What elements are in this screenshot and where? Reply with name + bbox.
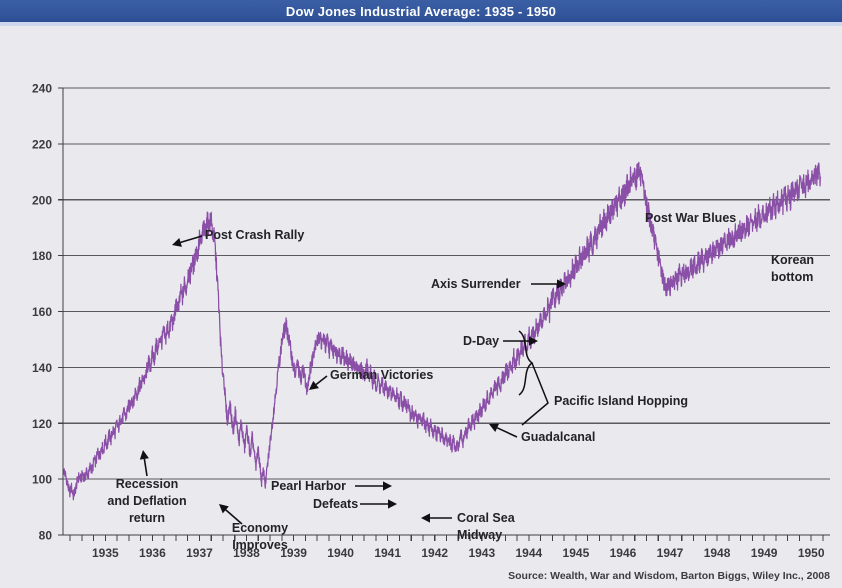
x-tick-label-1940: 1940 xyxy=(327,546,354,560)
x-tick-label-1950: 1950 xyxy=(798,546,825,560)
annotation-label-korean-bottom: Korean xyxy=(771,253,814,267)
y-tick-label-200: 200 xyxy=(32,193,52,207)
annotation-label-economy-improves: Improves xyxy=(232,538,288,552)
annotation-arrowhead-coral-sea-midway xyxy=(421,513,430,522)
annotation-label-korean-bottom: bottom xyxy=(771,270,813,284)
y-tick-label-80: 80 xyxy=(39,529,53,543)
annotation-label-defeats: Defeats xyxy=(313,497,358,511)
x-tick-label-1945: 1945 xyxy=(563,546,590,560)
annotation-arrowhead-pearl-harbor xyxy=(383,481,392,490)
annotation-recession-deflation: Recessionand Deflationreturn xyxy=(107,450,186,525)
chart-canvas: 80100120140160180200220240 1935193619371… xyxy=(0,26,842,588)
x-tick-label-1947: 1947 xyxy=(657,546,684,560)
annotation-label-pacific-island-hopping: Pacific Island Hopping xyxy=(554,394,688,408)
annotation-arrow-german-victories xyxy=(316,376,327,384)
y-axis-ticks-group: 80100120140160180200220240 xyxy=(32,82,63,543)
annotation-label-recession-deflation: Recession xyxy=(116,477,179,491)
x-tick-label-1942: 1942 xyxy=(421,546,448,560)
dow-jones-line-chart: 80100120140160180200220240 1935193619371… xyxy=(0,26,842,588)
annotation-post-war-blues: Post War Blues xyxy=(645,211,736,225)
y-tick-label-160: 160 xyxy=(32,305,52,319)
chart-page: 80100120140160180200220240 1935193619371… xyxy=(0,26,842,588)
x-tick-label-1946: 1946 xyxy=(610,546,637,560)
source-note: Source: Wealth, War and Wisdom, Barton B… xyxy=(508,570,830,582)
x-tick-label-1949: 1949 xyxy=(751,546,778,560)
annotation-arrow-guadalcanal xyxy=(497,428,517,437)
annotation-arrowhead-recession-deflation xyxy=(140,450,149,460)
annotation-label-recession-deflation: return xyxy=(129,511,165,525)
annotation-arrowhead-german-victories xyxy=(309,381,319,390)
annotation-label-axis-surrender: Axis Surrender xyxy=(431,277,521,291)
annotation-pearl-harbor: Pearl Harbor xyxy=(271,479,392,493)
x-tick-label-1937: 1937 xyxy=(186,546,213,560)
annotation-label-d-day: D-Day xyxy=(463,334,499,348)
annotation-label-guadalcanal: Guadalcanal xyxy=(521,430,595,444)
window-title-bar: Dow Jones Industrial Average: 1935 - 195… xyxy=(0,0,842,22)
x-tick-label-1935: 1935 xyxy=(92,546,119,560)
annotation-arrowhead-defeats xyxy=(388,499,397,508)
y-tick-label-180: 180 xyxy=(32,249,52,263)
annotation-pacific-island-hopping: Pacific Island Hopping xyxy=(519,331,688,425)
y-tick-label-100: 100 xyxy=(32,473,52,487)
annotation-post-crash-rally: Post Crash Rally xyxy=(172,228,304,247)
annotation-korean-bottom: Koreanbottom xyxy=(771,253,814,284)
annotation-label-coral-sea-midway: Coral Sea xyxy=(457,511,516,525)
annotation-label-pearl-harbor: Pearl Harbor xyxy=(271,479,346,493)
x-tick-label-1936: 1936 xyxy=(139,546,166,560)
annotation-economy-improves: EconomyImproves xyxy=(219,504,288,552)
annotation-arrow-recession-deflation xyxy=(144,459,147,476)
annotation-label-recession-deflation: and Deflation xyxy=(107,494,186,508)
annotation-label-german-victories: German Victories xyxy=(330,368,433,382)
annotation-label-post-crash-rally: Post Crash Rally xyxy=(205,228,304,242)
annotation-axis-surrender: Axis Surrender xyxy=(431,277,566,291)
x-tick-label-1948: 1948 xyxy=(704,546,731,560)
x-tick-label-1943: 1943 xyxy=(468,546,495,560)
page-title: Dow Jones Industrial Average: 1935 - 195… xyxy=(286,4,556,19)
y-tick-label-140: 140 xyxy=(32,361,52,375)
x-tick-label-1944: 1944 xyxy=(515,546,542,560)
y-tick-label-240: 240 xyxy=(32,82,52,96)
annotation-label-coral-sea-midway: Midway xyxy=(457,528,502,542)
annotation-label-post-war-blues: Post War Blues xyxy=(645,211,736,225)
x-tick-label-1941: 1941 xyxy=(374,546,401,560)
y-tick-label-120: 120 xyxy=(32,417,52,431)
annotation-arrowhead-post-crash-rally xyxy=(172,238,182,247)
annotation-defeats: Defeats xyxy=(313,497,397,511)
annotation-german-victories: German Victories xyxy=(309,368,433,390)
x-axis-ticks-group: 1935193619371938193919401941194219431944… xyxy=(70,535,825,560)
annotation-guadalcanal: Guadalcanal xyxy=(489,424,595,444)
y-tick-label-220: 220 xyxy=(32,137,52,151)
